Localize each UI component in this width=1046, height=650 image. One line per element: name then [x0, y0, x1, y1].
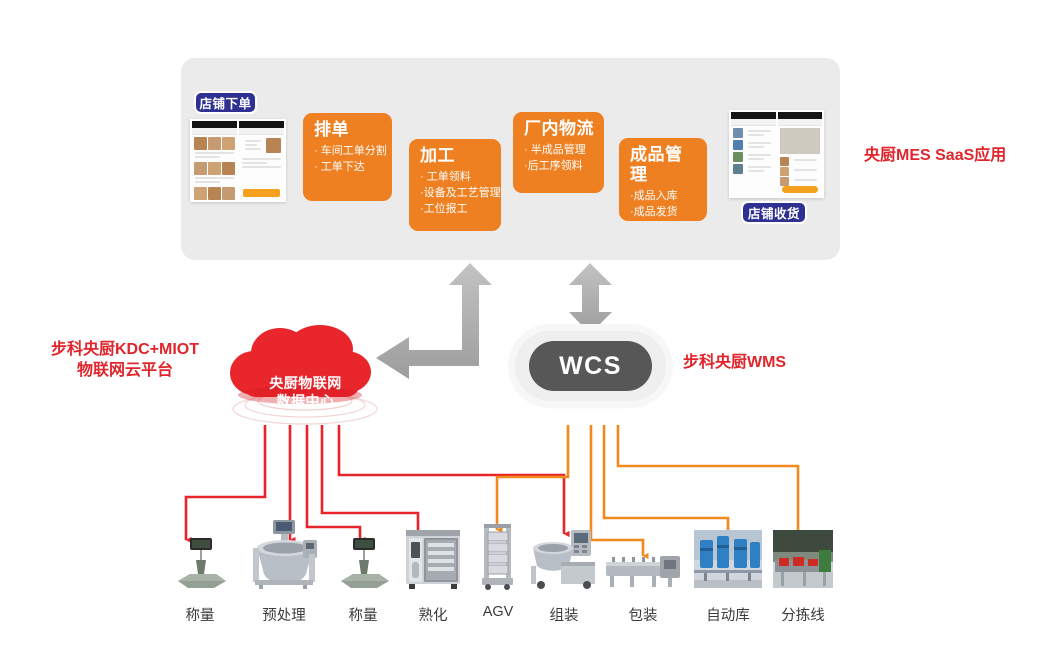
equipment-label-1: 预处理	[244, 604, 324, 625]
equipment-label-2: 称量	[323, 604, 403, 625]
mes-box-item: ·工位报工	[420, 202, 492, 218]
cloud-side-label: 步科央厨KDC+MIOT 物联网云平台	[51, 340, 199, 382]
phone-statusbar	[239, 121, 284, 128]
mes-box-chengpin-guanli[interactable]: 成品管理 ·成品入库 ·成品发货	[619, 138, 707, 221]
equipment-icon-scale	[170, 535, 232, 590]
equipment-label-7: 自动库	[688, 604, 768, 625]
equipment-icon-warehouse	[694, 530, 762, 588]
phone-submit-button[interactable]	[243, 189, 280, 197]
phone-screen-cart	[778, 112, 823, 196]
wcs-inner: WCS	[529, 341, 652, 391]
phone-navbar	[731, 119, 776, 126]
cloud-label-line1: 央厨物联网	[228, 375, 383, 393]
diagram-canvas: 店铺下单 排单 · 车间	[0, 0, 1046, 650]
mes-side-label: 央厨MES SaaS应用	[864, 146, 1006, 167]
phone-screen-list	[192, 121, 237, 200]
equipment-icon-assembly	[527, 528, 599, 590]
mes-box-item: ·后工序领料	[524, 159, 595, 175]
phone-checkout-button[interactable]	[782, 186, 819, 193]
mes-box-changnei-wuliu[interactable]: 厂内物流 · 半成品管理 ·后工序领料	[513, 112, 604, 193]
mes-box-jiagong[interactable]: 加工 · 工单领料 ·设备及工艺管理 ·工位报工	[409, 139, 501, 231]
mes-box-item: ·成品入库	[630, 189, 698, 205]
mes-box-title: 成品管理	[630, 145, 698, 185]
cloud-label: 央厨物联网 数据中心	[228, 375, 383, 411]
phone-screen-detail	[239, 121, 284, 200]
mes-box-item: · 半成品管理	[524, 143, 595, 159]
phone-mockup-order	[190, 119, 286, 202]
equipment-label-8: 分拣线	[763, 604, 843, 625]
equipment-label-6: 包装	[603, 604, 683, 625]
phone-navbar	[778, 119, 823, 126]
mes-box-paidan[interactable]: 排单 · 车间工单分割 · 工单下达	[303, 113, 392, 201]
wcs-side-label: 步科央厨WMS	[683, 353, 786, 374]
mes-box-item: ·成品发货	[630, 205, 698, 221]
equipment-icon-kettle	[245, 518, 323, 590]
cloud-side-label-line2: 物联网云平台	[51, 361, 199, 382]
mes-box-item: · 工单领料	[420, 170, 492, 186]
phone-screen-orders	[731, 112, 776, 196]
phone-navbar	[192, 128, 237, 135]
phone-statusbar	[778, 112, 823, 119]
phone-navbar	[239, 128, 284, 135]
equipment-icon-sorting	[773, 530, 833, 588]
cloud-label-line2: 数据中心	[228, 393, 383, 411]
cloud-side-label-line1: 步科央厨KDC+MIOT	[51, 340, 199, 361]
phone-mockup-receive	[729, 110, 824, 198]
equipment-label-0: 称量	[160, 604, 240, 625]
badge-receive[interactable]: 店铺收货	[743, 203, 805, 222]
equipment-icon-oven	[404, 528, 462, 590]
mes-box-title: 厂内物流	[524, 119, 595, 139]
mes-box-title: 加工	[420, 146, 492, 166]
badge-order[interactable]: 店铺下单	[196, 93, 255, 112]
cloud-iot-node[interactable]: 央厨物联网 数据中心	[228, 325, 383, 427]
phone-statusbar	[192, 121, 237, 128]
phone-statusbar	[731, 112, 776, 119]
wcs-node[interactable]: WCS	[515, 331, 666, 401]
mes-box-item: ·设备及工艺管理	[420, 186, 492, 202]
equipment-icon-conveyor	[604, 548, 682, 590]
mes-box-item: · 车间工单分割	[314, 144, 383, 160]
wcs-label: WCS	[529, 341, 652, 391]
equipment-label-5: 组装	[524, 604, 604, 625]
mes-box-item: · 工单下达	[314, 160, 383, 176]
equipment-icon-agv	[478, 522, 518, 590]
equipment-icon-scale	[333, 535, 395, 590]
mes-box-title: 排单	[314, 120, 383, 140]
